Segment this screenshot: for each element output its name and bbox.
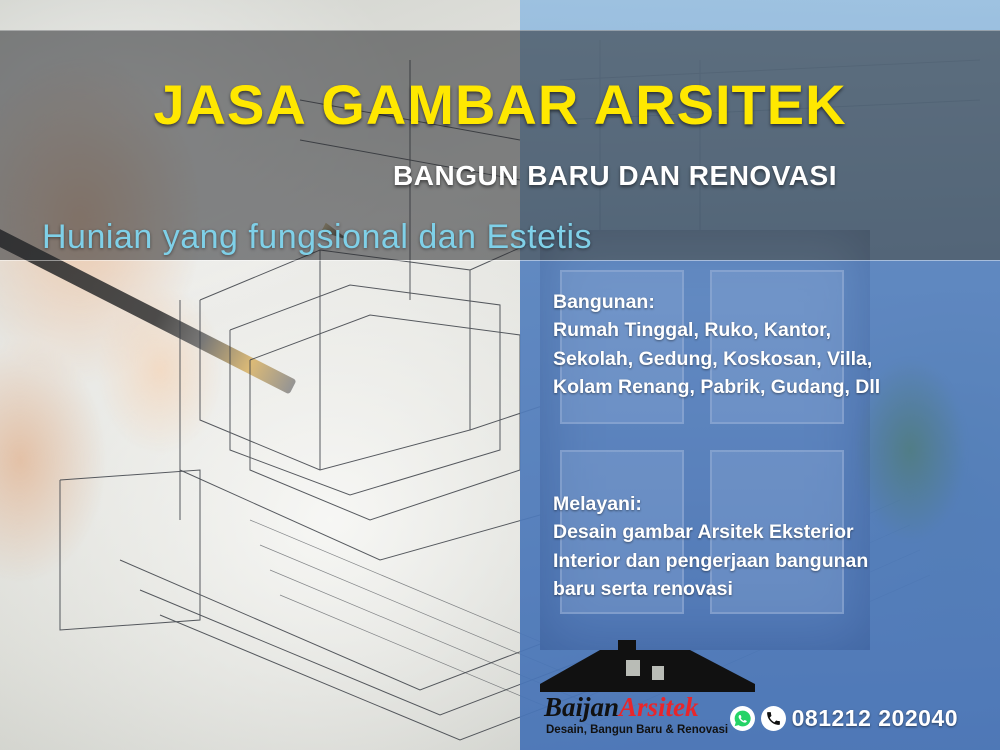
divider-line-top [0,30,1000,31]
melayani-title: Melayani: [553,490,973,518]
melayani-line-1: Desain gambar Arsitek Eksterior [553,518,973,546]
services-line-1: Rumah Tinggal, Ruko, Kantor, [553,316,973,344]
contact-phone[interactable]: 081212 202040 [730,705,958,732]
whatsapp-icon[interactable] [730,706,755,731]
services-title: Bangunan: [553,288,973,316]
logo-name-second: Arsitek [619,692,699,722]
poster-canvas: JASA GAMBAR ARSITEK BANGUN BARU DAN RENO… [0,0,1000,750]
divider-line-middle [0,260,1000,261]
services-line-3: Kolam Renang, Pabrik, Gudang, Dll [553,373,973,401]
melayani-line-3: baru serta renovasi [553,575,973,603]
logo-name-first: Baijan [544,692,619,722]
logo-tagline: Desain, Bangun Baru & Renovasi [546,724,728,736]
services-line-2: Sekolah, Gedung, Koskosan, Villa, [553,345,973,373]
phone-number: 081212 202040 [792,705,958,732]
services-block: Bangunan: Rumah Tinggal, Ruko, Kantor, S… [553,288,973,401]
subheadline: BANGUN BARU DAN RENOVASI [0,160,1000,192]
melayani-block: Melayani: Desain gambar Arsitek Eksterio… [553,490,973,603]
melayani-line-2: Interior dan pengerjaan bangunan [553,547,973,575]
tagline: Hunian yang fungsional dan Estetis [42,218,592,257]
headline: JASA GAMBAR ARSITEK [0,72,1000,137]
house-roof-icon [540,640,755,692]
phone-icon[interactable] [761,706,786,731]
